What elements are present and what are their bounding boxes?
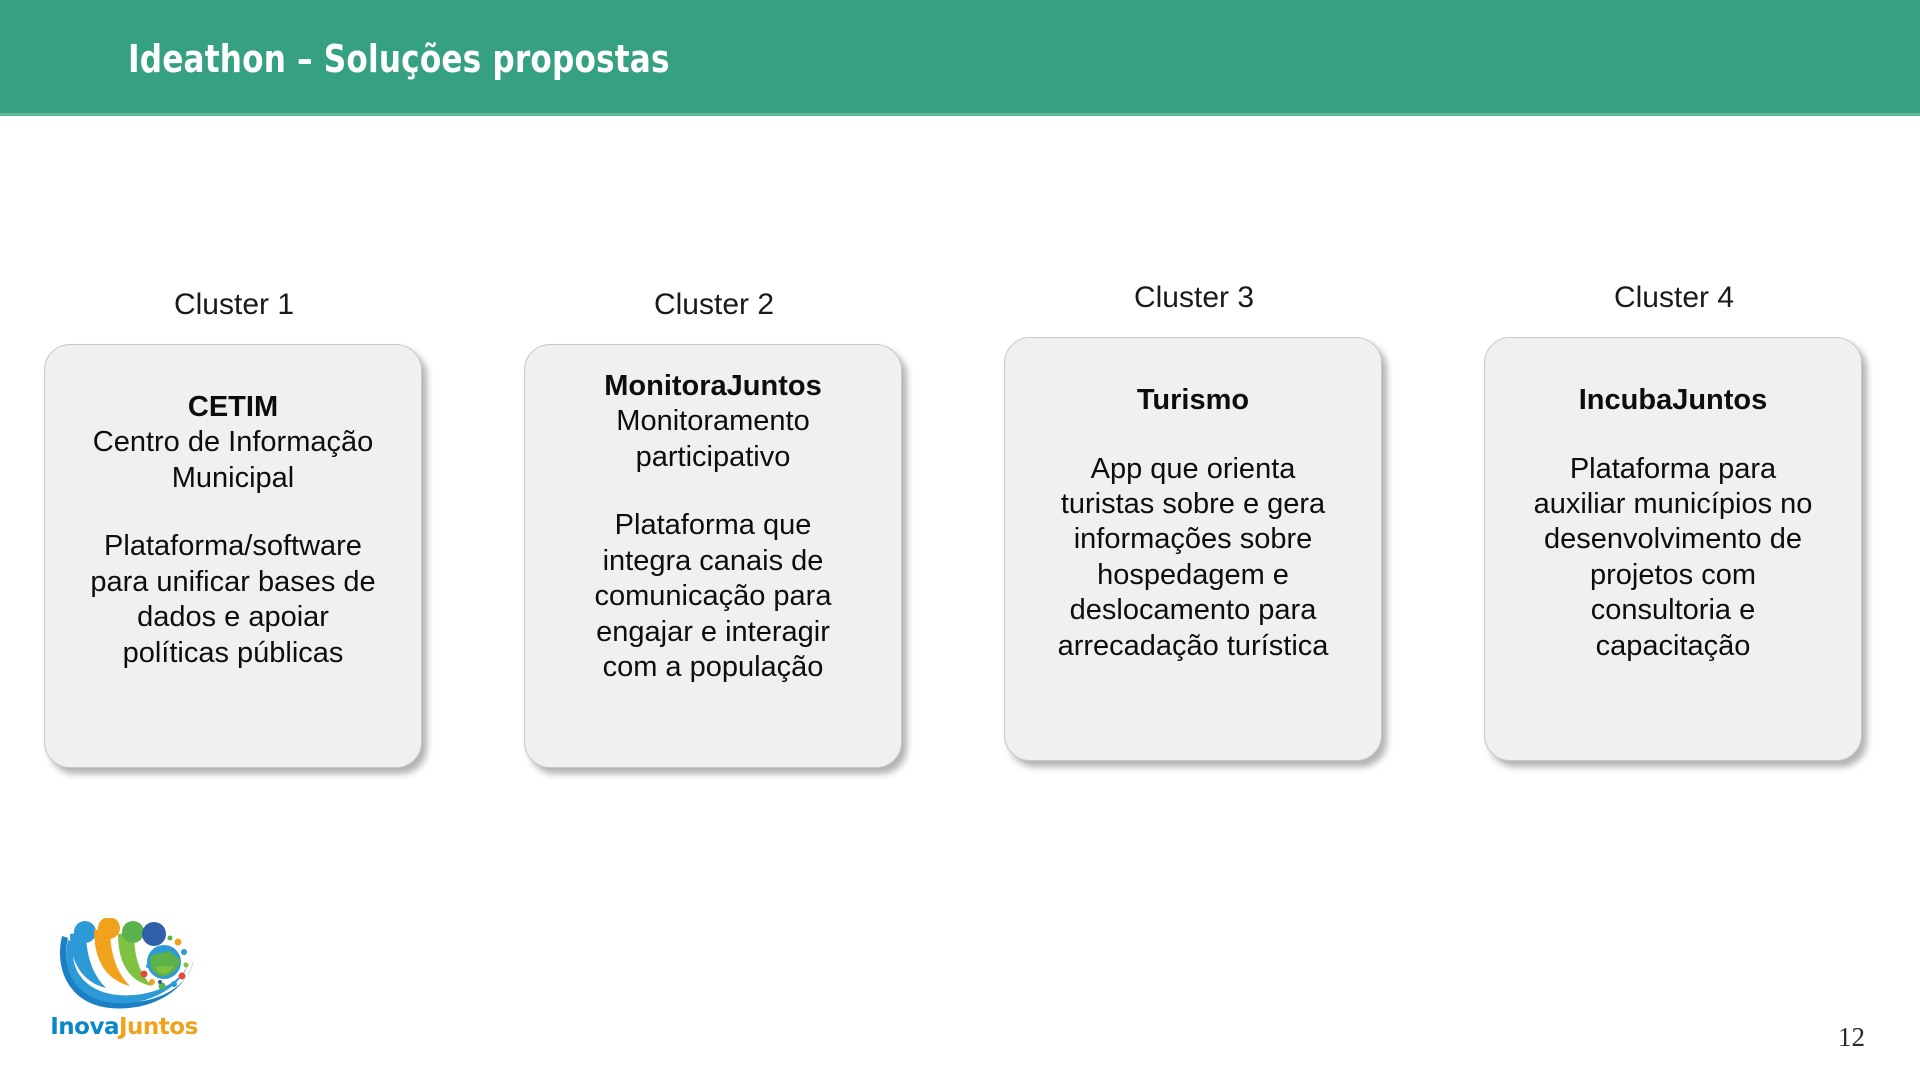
solution-card-2-subtitle: Monitoramento participativo [541,404,885,475]
solution-card-1-content: CETIM Centro de Informação Municipal Pla… [61,367,405,671]
inovajuntos-logo: InovaJuntos [48,918,200,1048]
solution-card-2-content: MonitoraJuntos Monitoramento participati… [541,367,885,685]
solution-card-3-content: Turismo App que orienta turistas sobre e… [1021,360,1365,664]
solution-card-3[interactable]: Turismo App que orienta turistas sobre e… [1004,337,1382,761]
solution-card-3-body: App que orienta turistas sobre e gera in… [1021,452,1365,664]
solution-card-4-content: IncubaJuntos Plataforma para auxiliar mu… [1501,360,1845,664]
cluster-label-3: Cluster 3 [1004,281,1384,315]
solution-card-3-title: Turismo [1021,383,1365,418]
logo-word-juntos: Juntos [119,1014,198,1040]
cluster-label-1: Cluster 1 [44,288,424,322]
logo-word-inova: Inova [50,1014,119,1040]
solution-card-2-title: MonitoraJuntos [541,369,885,404]
slide: Ideathon – Soluções propostas Cluster 1 … [0,0,1920,1080]
solution-card-1-body: Plataforma/software para unificar bases … [61,529,405,671]
solution-card-4[interactable]: IncubaJuntos Plataforma para auxiliar mu… [1484,337,1862,761]
inovajuntos-logo-icon [48,918,200,1014]
solution-card-4-body: Plataforma para auxiliar municípios no d… [1501,452,1845,664]
solution-card-2-body: Plataforma que integra canais de comunic… [541,508,885,685]
page-title: Ideathon – Soluções propostas [128,37,670,81]
inovajuntos-wordmark: InovaJuntos [48,1014,200,1040]
solution-card-1[interactable]: CETIM Centro de Informação Municipal Pla… [44,344,422,768]
solution-card-4-title: IncubaJuntos [1501,383,1845,418]
cluster-label-4: Cluster 4 [1484,281,1864,315]
solution-card-1-title: CETIM [61,390,405,425]
cluster-label-2: Cluster 2 [524,288,904,322]
page-number: 12 [1838,1022,1865,1053]
header-bar-underline [0,113,1920,116]
solution-card-1-subtitle: Centro de Informação Municipal [61,425,405,496]
solution-card-2[interactable]: MonitoraJuntos Monitoramento participati… [524,344,902,768]
